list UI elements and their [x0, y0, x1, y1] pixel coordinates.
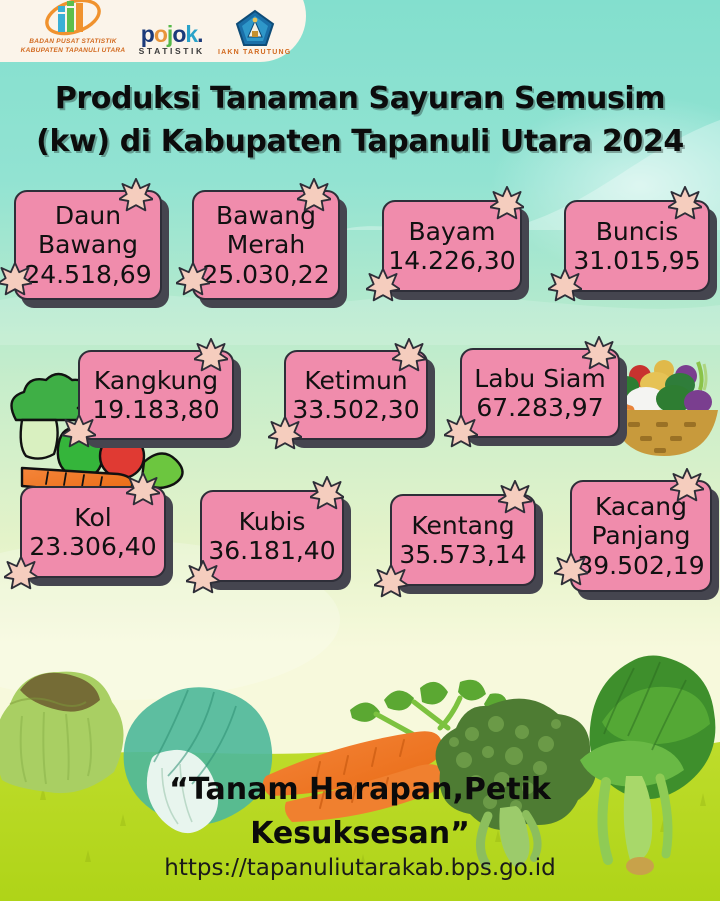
iakn-caption: IAKN TARUTUNG [218, 49, 291, 56]
stat-card-value: 31.015,95 [573, 246, 700, 276]
stat-card-name-line1: Bawang [216, 201, 316, 231]
page-title: Produksi Tanaman Sayuran Semusim (kw) di… [0, 78, 720, 163]
bps-caption-line2: KABUPATEN TAPANULI UTARA [21, 47, 126, 56]
stat-card-value: 24.518,69 [24, 260, 151, 290]
stat-card-name-line1: Kentang [411, 511, 514, 541]
stat-card-value: 19.183,80 [92, 395, 219, 425]
stat-card-kentang[interactable]: Kentang 35.573,14 [390, 494, 536, 586]
stat-card-value: 39.502,19 [577, 551, 704, 581]
logo-banner: BADAN PUSAT STATISTIK KABUPATEN TAPANULI… [0, 0, 306, 62]
stat-card-name-line1: Bayam [409, 217, 496, 247]
title-line-2: (kw) di Kabupaten Tapanuli Utara 2024 [0, 121, 720, 164]
stat-card-value: 25.030,22 [202, 260, 329, 290]
bps-caption-line1: BADAN PUSAT STATISTIK [29, 38, 117, 47]
stat-card-value: 23.306,40 [29, 532, 156, 562]
stat-card-name-line1: Kangkung [94, 366, 218, 396]
stat-card-name-line1: Daun [55, 201, 121, 231]
logo-pojok-statistik: pojok. STATISTIK [139, 24, 205, 56]
tagline-line-1: “Tanam Harapan,Petik [0, 768, 720, 812]
stat-card-name-line1: Kol [74, 503, 111, 533]
iakn-tarutung-logo-icon [235, 9, 275, 49]
stat-card-value: 67.283,97 [476, 393, 603, 423]
stat-card-value: 36.181,40 [208, 536, 335, 566]
stat-card-value: 33.502,30 [292, 395, 419, 425]
stat-card-name-line1: Buncis [596, 217, 679, 247]
website-url[interactable]: https://tapanuliutarakab.bps.go.id [0, 855, 720, 881]
stat-card-name-line1: Ketimun [304, 366, 407, 396]
stat-card-name-line1: Kacang [595, 492, 687, 522]
pojok-statistik-logo-icon: pojok. [141, 24, 203, 46]
stat-card-bawang-merah[interactable]: Bawang Merah 25.030,22 [192, 190, 340, 300]
stat-card-labu-siam[interactable]: Labu Siam 67.283,97 [460, 348, 620, 438]
pojok-caption: STATISTIK [139, 46, 205, 56]
tagline-line-2: Kesuksesan” [0, 812, 720, 856]
stat-card-daun-bawang[interactable]: Daun Bawang 24.518,69 [14, 190, 162, 300]
stat-card-kol[interactable]: Kol 23.306,40 [20, 486, 166, 578]
logo-bps: BADAN PUSAT STATISTIK KABUPATEN TAPANULI… [21, 0, 126, 56]
stat-card-name-line2: Merah [227, 230, 305, 260]
stat-card-bayam[interactable]: Bayam 14.226,30 [382, 200, 522, 292]
stat-card-name-line2: Bawang [38, 230, 138, 260]
stat-card-name-line1: Labu Siam [474, 364, 605, 394]
logo-iakn-tarutung: IAKN TARUTUNG [218, 9, 291, 56]
title-line-1: Produksi Tanaman Sayuran Semusim [0, 78, 720, 121]
stat-card-value: 14.226,30 [388, 246, 515, 276]
stat-card-name-line1: Kubis [239, 507, 306, 537]
bps-logo-icon [44, 0, 102, 38]
stat-card-buncis[interactable]: Buncis 31.015,95 [564, 200, 710, 292]
stat-card-value: 35.573,14 [399, 540, 526, 570]
stat-card-kubis[interactable]: Kubis 36.181,40 [200, 490, 344, 582]
stat-card-name-line2: Panjang [591, 521, 690, 551]
stat-card-kacang-panjang[interactable]: Kacang Panjang 39.502,19 [570, 480, 712, 592]
tagline: “Tanam Harapan,Petik Kesuksesan” [0, 768, 720, 855]
stat-card-ketimun[interactable]: Ketimun 33.502,30 [284, 350, 428, 440]
stat-card-kangkung[interactable]: Kangkung 19.183,80 [78, 350, 234, 440]
